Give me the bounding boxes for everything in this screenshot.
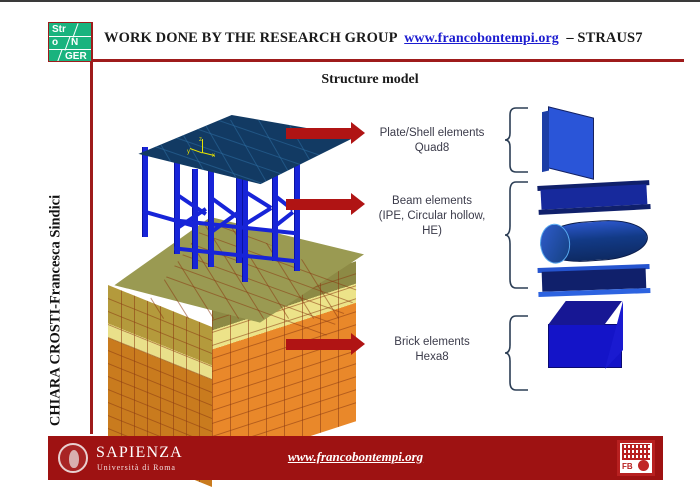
logo-row-1: Str (49, 23, 91, 36)
cube-top-face (548, 301, 622, 325)
footer-website-link[interactable]: www.francobontempi.org (48, 449, 663, 465)
stronger-logo: Str o N GER (48, 22, 92, 62)
fb-logo-dot (638, 460, 649, 471)
brace-beam (504, 180, 530, 290)
brace-plate-shell (504, 106, 530, 174)
i-beam-ipe-icon (537, 180, 650, 216)
label-beam-line-3: HE) (362, 224, 502, 239)
author-vertical-label: CHIARA CROSTI-Francesca Sindici (48, 191, 65, 431)
logo-text-str: Str (52, 23, 66, 36)
plate-quad8-icon (548, 106, 594, 179)
soil-brick-block (104, 217, 364, 427)
header-title: WORK DONE BY THE RESEARCH GROUP www.fran… (104, 30, 624, 52)
slide-canvas: Str o N GER WORK DONE BY THE RESEARCH GR… (0, 0, 700, 496)
francobontempi-logo: FB (617, 440, 655, 476)
brace-brick (504, 314, 530, 392)
label-plate-shell: Plate/Shell elements Quad8 (368, 126, 496, 156)
logo-text-n: N (71, 36, 78, 49)
content-vertical-rule (90, 22, 93, 434)
header-horizontal-rule (90, 59, 684, 62)
structure-model-graphic: z x y (96, 97, 396, 437)
circular-hollow-tube-icon (539, 217, 650, 264)
label-beam-line-2: (IPE, Circular hollow, (362, 209, 502, 224)
deck-plate-gridlines (134, 115, 356, 187)
label-brick: Brick elements Hexa8 (368, 335, 496, 365)
header-title-suffix: – STRAUS7 (566, 30, 642, 46)
page-title: Structure model (280, 72, 460, 88)
header-website-link[interactable]: www.francobontempi.org (404, 31, 559, 46)
header-title-prefix: WORK DONE BY THE RESEARCH GROUP (104, 30, 397, 46)
label-plate-shell-line-2: Quad8 (368, 141, 496, 156)
tube-end-cap (539, 223, 572, 265)
fb-logo-text: FB (622, 462, 633, 471)
arrow-beam (286, 199, 352, 210)
label-brick-line-1: Brick elements (368, 335, 496, 350)
logo-text-o: o (52, 36, 58, 49)
footer-bar: SAPIENZA Università di Roma www.francobo… (48, 436, 663, 480)
arrow-plate-shell (286, 128, 352, 139)
arrow-brick (286, 339, 352, 350)
logo-row-3: GER (49, 50, 91, 62)
cube-hexa8-icon (548, 324, 622, 368)
label-beam: Beam elements (IPE, Circular hollow, HE) (362, 194, 502, 239)
fb-logo-pattern (622, 444, 650, 460)
label-brick-line-2: Hexa8 (368, 350, 496, 365)
h-beam-he-icon (538, 264, 651, 298)
logo-text-ger: GER (65, 50, 87, 62)
label-beam-line-1: Beam elements (362, 194, 502, 209)
label-plate-shell-line-1: Plate/Shell elements (368, 126, 496, 141)
axis-triad-icon: z x y (190, 139, 216, 165)
logo-row-2: o N (49, 36, 91, 49)
